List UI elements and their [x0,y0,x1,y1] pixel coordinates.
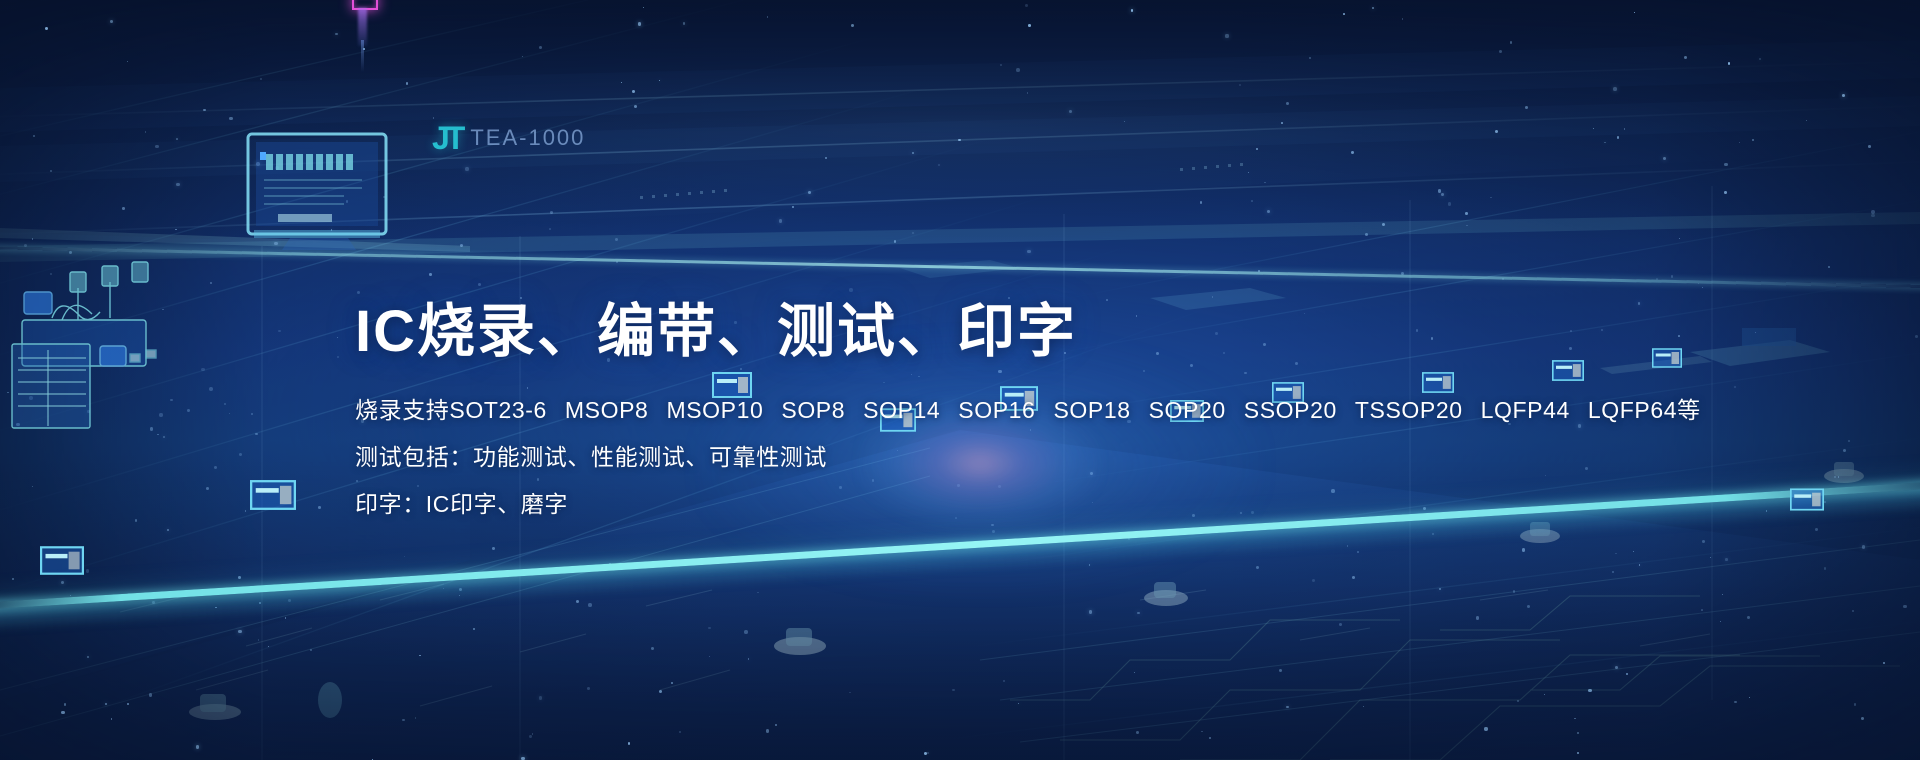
particle-dot [87,656,89,658]
particle-dot [748,658,750,660]
particle-dot [1027,92,1028,93]
particle-dot [1352,576,1355,579]
particle-dot [419,655,421,657]
monitor-icon [244,130,394,250]
particle-dot [61,581,65,585]
particle-dot [1201,731,1203,733]
particle-dot [149,693,152,696]
particle-dot [1465,212,1468,215]
package-label: SOP14 [863,399,940,422]
particle-dot [1363,706,1365,708]
particle-dot [1838,476,1839,477]
particle-dot [849,288,853,292]
particle-dot [1710,557,1711,558]
particle-dot [460,244,463,247]
particle-dot [255,433,257,435]
particle-dot [1626,673,1628,675]
particle-dot [1617,136,1620,139]
particle-dot [1663,157,1666,160]
package-label: SSOP20 [1244,399,1337,422]
particle-dot [1852,610,1854,612]
particle-dot [1593,128,1594,129]
particle-dot [111,718,112,719]
particle-dot [1279,669,1282,672]
particle-dot [927,752,929,754]
particle-dot [1671,275,1673,277]
particle-dot [1613,87,1617,91]
particle-dot [406,82,409,85]
particle-dot [1517,700,1519,702]
particle-dot [532,733,534,735]
particle-dot [683,22,686,25]
particle-dot [12,578,14,580]
particle-dot [105,703,107,705]
particle-dot [1134,672,1136,674]
particle-dot [671,682,673,684]
package-label: LQFP64等 [1588,399,1701,422]
particle-dot [766,729,769,732]
particle-dot [1604,142,1606,144]
particle-dot [61,711,65,715]
particle-dot [310,649,313,652]
particle-dot [522,56,523,57]
particle-dot [251,413,253,415]
particle-dot [1724,163,1728,167]
particle-dot [1200,201,1203,204]
particle-dot [1490,197,1492,199]
particle-dot [1848,440,1850,442]
hero-banner: JT TEA-1000 [0,0,1920,760]
particle-dot [415,717,417,719]
particle-dot [628,742,631,745]
particle-dot [659,690,662,693]
particle-dot [588,603,592,607]
particle-dot [167,529,170,532]
particle-dot [1806,120,1807,121]
particle-dot [1256,148,1259,151]
particle-dot [825,157,827,159]
particle-dot [708,627,710,629]
particle-dot [1854,703,1857,706]
marking-scope-line: 印字：IC印字、磨字 [355,493,1655,516]
particle-dot [779,219,782,222]
particle-dot [145,131,147,133]
particle-dot [1382,223,1385,226]
particle-dot [170,399,172,401]
particle-dot [1720,621,1722,623]
particle-dot [1862,545,1865,548]
particle-dot [1679,238,1681,240]
screen-chip-icon [1652,348,1682,368]
particle-dot [196,745,199,748]
particle-dot [209,387,213,391]
particle-dot [1248,172,1249,173]
particle-dot [1025,4,1028,7]
particle-dot [1722,594,1723,595]
particle-dot [1018,703,1019,704]
particle-dot [549,228,551,230]
particle-dot [229,117,233,121]
screen-chip-icon [250,480,296,510]
particle-dot [33,135,35,137]
particle-dot [122,207,125,210]
particle-dot [1439,588,1441,590]
particle-dot [1861,717,1865,721]
particle-dot [1747,616,1750,619]
particle-dot [1069,110,1072,113]
particle-dot [1828,266,1830,268]
test-scope-line: 测试包括：功能测试、性能测试、可靠性测试 [355,446,1655,469]
particle-dot [1372,7,1374,9]
jt-logo-icon: JT [432,122,461,154]
particle-dot [1124,121,1125,122]
particle-dot [1634,12,1635,13]
particle-dot [135,519,138,522]
particle-dot [894,240,896,242]
particle-dot [1612,571,1614,573]
particle-dot [110,20,113,23]
particle-dot [1577,752,1579,754]
package-label: SOP16 [958,399,1035,422]
particle-dot [1016,68,1020,72]
particle-dot [175,229,177,231]
particle-dot [1824,567,1827,570]
particle-dot [1527,605,1530,608]
particle-dot [429,273,432,276]
particle-dot [1351,151,1354,154]
particle-dot [1701,609,1703,611]
particle-dot [757,592,759,594]
particle-dot [1842,94,1845,97]
particle-dot [1834,476,1836,478]
particle-dot [1448,202,1452,206]
particle-dot [32,486,33,487]
particle-dot [1281,122,1283,124]
particle-dot [1752,139,1754,141]
particle-dot [1003,680,1005,682]
particle-dot [478,283,482,287]
particle-dot [1466,225,1468,227]
particle-dot [224,403,226,405]
particle-dot [621,82,622,83]
particle-dot [50,170,53,173]
magenta-beam-tail [361,40,364,72]
particle-dot [278,330,280,332]
particle-dot [1309,57,1311,59]
particle-dot [615,238,618,241]
particle-dot [1264,182,1266,184]
particle-dot [1209,737,1211,739]
particle-dot [792,206,794,208]
particle-dot [1225,34,1228,37]
particle-dot [238,630,242,634]
particle-dot [1588,689,1592,693]
particle-dot [1522,548,1525,551]
particle-dot [808,191,812,195]
particle-dot [318,506,321,509]
particle-dot [260,78,262,80]
particle-dot [550,211,553,214]
particle-dot [1815,528,1818,531]
particle-dot [638,22,641,25]
particle-dot [1615,666,1618,669]
particle-dot [587,687,590,690]
particle-dot [1438,189,1442,193]
particle-dot [1544,694,1545,695]
particle-dot [1267,210,1270,213]
particle-dot [127,703,129,705]
particle-dot [1137,612,1140,615]
particle-dot [258,639,260,641]
particle-dot [245,510,246,511]
particle-dot [214,466,217,469]
particle-dot [337,356,339,358]
particle-dot [1728,62,1731,65]
particle-dot [1734,701,1737,704]
particle-dot [767,16,769,18]
particle-dot [679,731,681,733]
brand-lockup: JT TEA-1000 [432,122,585,154]
particle-dot [86,569,90,573]
particle-dot [1759,58,1761,60]
particle-dot [643,7,645,9]
particle-dot [912,152,914,154]
particle-dot [1343,13,1345,15]
particle-dot [404,556,405,557]
particle-dot [155,145,159,149]
particle-dot [1089,610,1092,613]
particle-dot [229,413,231,415]
particle-dot [70,595,72,597]
particle-dot [402,719,405,722]
particle-dot [539,46,542,49]
screen-chip-icon [1790,488,1824,511]
particle-dot [632,90,635,93]
particle-dot [64,703,66,705]
particle-dot [239,453,242,456]
package-label: SOP20 [1149,399,1226,422]
particle-dot [634,105,637,108]
particle-dot [1871,214,1875,218]
particle-dot [1212,296,1214,298]
particle-dot [1915,335,1918,338]
particle-dot [206,487,210,491]
brand-model-label: TEA-1000 [470,127,585,149]
feature-lines: 烧录支持SOT23-6MSOP8MSOP10SOP8SOP14SOP16SOP1… [355,399,1655,516]
particle-dot [32,238,33,239]
particle-dot [952,689,954,691]
particle-dot [849,692,850,693]
particle-dot [45,27,48,30]
particle-dot [1136,731,1139,734]
particle-dot [1251,200,1253,202]
particle-dot [473,628,475,630]
particle-dot [335,33,337,35]
particle-dot [433,117,434,118]
particle-dot [357,291,360,294]
particle-dot [465,167,469,171]
particle-dot [1525,106,1528,109]
package-label: SOP18 [1053,399,1130,422]
particle-dot [744,630,748,634]
particle-dot [1739,142,1740,143]
particle-dot [203,109,206,112]
particle-dot [176,138,178,140]
particle-dot [1702,540,1705,543]
particle-dot [1131,9,1133,11]
industrial-machine-icon [0,258,170,458]
particle-dot [539,696,543,700]
particle-dot [69,251,72,254]
particle-dot [176,183,179,186]
package-label: MSOP10 [666,399,763,422]
particle-dot [1000,64,1002,66]
particle-dot [285,617,287,619]
particle-dot [1843,449,1847,453]
package-label: SOP8 [781,399,845,422]
particle-dot [238,576,241,579]
particle-dot [1903,605,1906,608]
particle-dot [1639,564,1640,565]
particle-dot [659,80,660,81]
particle-dot [201,368,205,372]
particle-dot [912,232,914,234]
particle-dot [1574,718,1576,720]
package-label: MSOP8 [565,399,649,422]
particle-dot [1286,706,1288,708]
particle-dot [1868,145,1871,148]
particle-dot [1615,553,1617,555]
particle-dot [1678,335,1680,337]
particle-dot [1724,191,1727,194]
particle-dot [1027,250,1030,253]
particle-dot [1484,727,1487,730]
particle-dot [709,656,710,657]
particle-dot [1577,732,1580,735]
particle-dot [492,547,495,550]
package-label: LQFP44 [1481,399,1570,422]
particle-dot [1734,386,1736,388]
particle-dot [1510,41,1513,44]
banner-content: IC烧录、编带、测试、印字 烧录支持SOT23-6MSOP8MSOP10SOP8… [355,300,1655,516]
particle-dot [127,61,129,63]
particle-dot [1499,50,1502,53]
particle-dot [1402,18,1404,20]
particle-dot [576,600,579,603]
particle-dot [1476,616,1480,620]
particle-dot [1883,662,1885,664]
particle-dot [1239,84,1241,86]
particle-dot [1749,697,1751,699]
particle-dot [1633,551,1634,552]
particle-dot [187,409,190,412]
particle-dot [938,164,940,166]
particle-dot [1495,130,1498,133]
particle-dot [268,646,269,647]
particle-dot [1357,551,1359,553]
particle-dot [1513,590,1515,592]
particle-dot [1028,24,1031,27]
particle-dot [775,724,777,726]
particle-dot [529,735,532,738]
screen-chip-icon [40,546,84,575]
particle-dot [651,647,654,650]
particle-dot [1725,558,1728,561]
particle-dot [1684,56,1687,59]
page-title: IC烧录、编带、测试、印字 [355,300,1655,365]
particle-dot [337,337,339,339]
particle-dot [1312,579,1316,583]
particle-dot [1702,287,1704,289]
particle-dot [1441,193,1445,197]
particle-dot [1286,102,1289,105]
particle-dot [1365,233,1368,236]
particle-dot [851,24,855,28]
particle-dot [1624,128,1626,130]
particle-dot [958,139,961,142]
particle-dot [1339,623,1342,626]
burn-support-line: 烧录支持SOT23-6MSOP8MSOP10SOP8SOP14SOP16SOP1… [355,399,1655,422]
particle-dot [1755,332,1757,334]
burn-support-prefix: 烧录支持SOT23-6 [355,399,547,422]
package-label: TSSOP20 [1355,399,1463,422]
particle-dot [210,282,212,284]
